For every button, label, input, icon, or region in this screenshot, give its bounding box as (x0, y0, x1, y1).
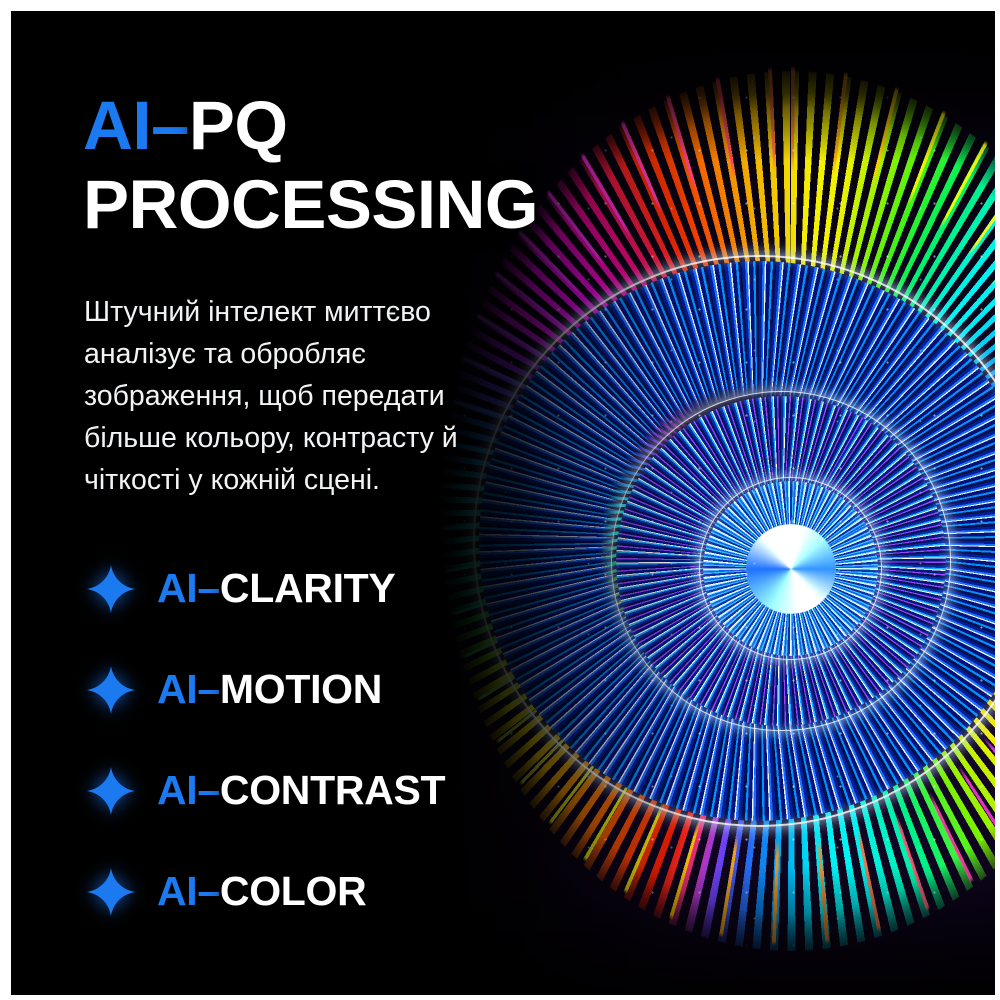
feature-label-clarity: AI–CLARITY (157, 565, 395, 612)
description-text: Штучний інтелект миттєво аналізує та обр… (84, 292, 534, 501)
sparkle-icon (87, 868, 135, 916)
feature-label-motion: AI–MOTION (157, 666, 382, 713)
feature-item-motion[interactable]: AI–MOTION (87, 639, 607, 740)
sparkle-icon (87, 565, 135, 613)
feature-accent-contrast: AI– (157, 767, 220, 813)
promo-card: AI–PQPROCESSING Штучний інтелект миттєво… (11, 11, 995, 995)
page-title-accent: AI– (83, 87, 189, 164)
page-title-line1: PQ (189, 87, 288, 164)
feature-list: AI–CLARITY AI–MOTION AI–CONTRAST AI–COLO… (87, 538, 607, 942)
feature-label-color: AI–COLOR (157, 868, 366, 915)
sparkle-icon (87, 666, 135, 714)
feature-item-color[interactable]: AI–COLOR (87, 841, 607, 942)
page-title: AI–PQPROCESSING (83, 87, 703, 244)
content-area: AI–PQPROCESSING Штучний інтелект миттєво… (11, 11, 995, 995)
feature-name-clarity: CLARITY (220, 565, 396, 611)
page-title-line2: PROCESSING (83, 166, 538, 243)
feature-accent-motion: AI– (157, 666, 220, 712)
feature-label-contrast: AI–CONTRAST (157, 767, 445, 814)
feature-accent-color: AI– (157, 868, 220, 914)
feature-accent-clarity: AI– (157, 565, 220, 611)
feature-name-motion: MOTION (220, 666, 382, 712)
feature-item-contrast[interactable]: AI–CONTRAST (87, 740, 607, 841)
feature-name-color: COLOR (220, 868, 367, 914)
sparkle-icon (87, 767, 135, 815)
feature-item-clarity[interactable]: AI–CLARITY (87, 538, 607, 639)
feature-name-contrast: CONTRAST (220, 767, 445, 813)
